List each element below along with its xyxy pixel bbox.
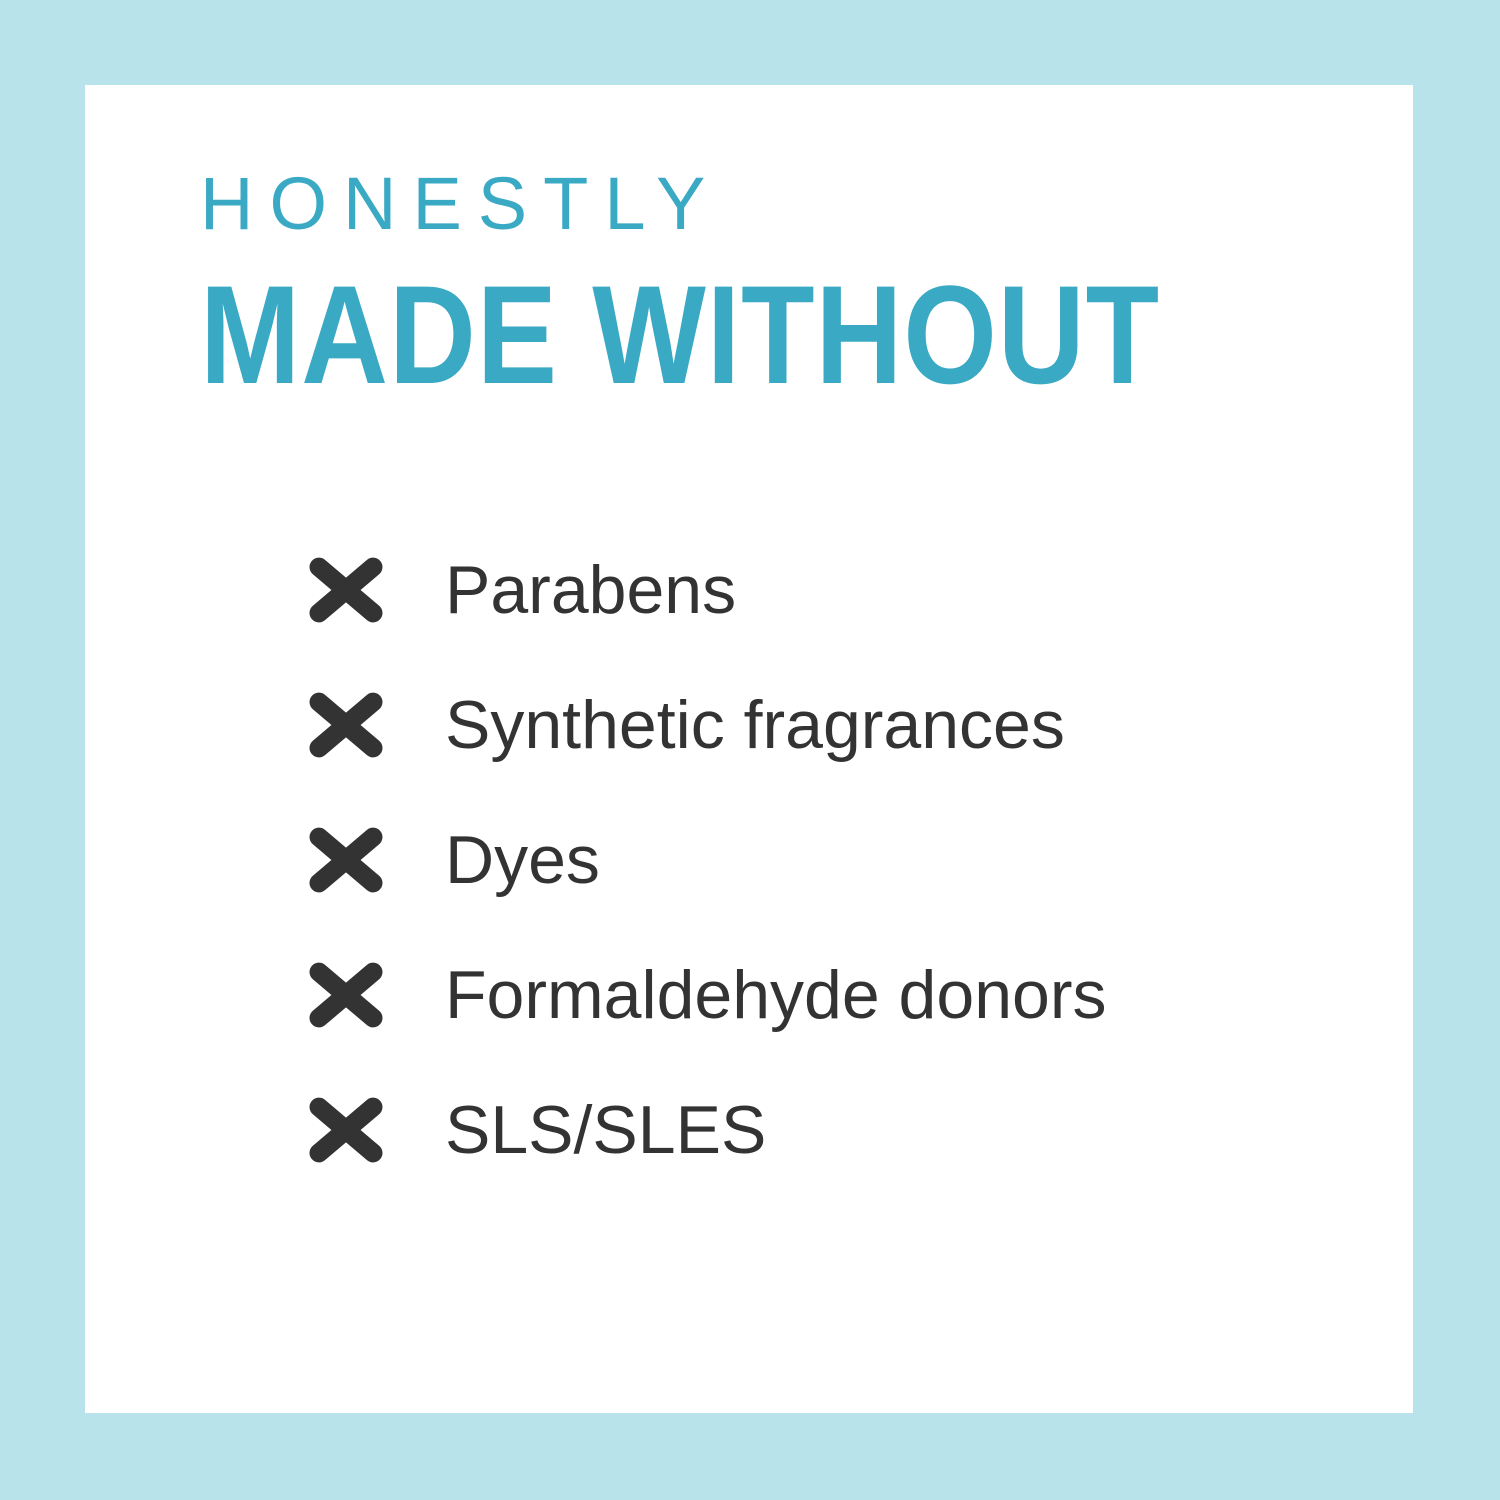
x-mark-icon (305, 1089, 387, 1171)
list-item: Parabens (305, 540, 1365, 640)
list-item: Formaldehyde donors (305, 945, 1365, 1045)
list-item: Dyes (305, 810, 1365, 910)
content-panel: HONESTLY MADE WITHOUT Parabens (85, 85, 1413, 1413)
heading-block: HONESTLY MADE WITHOUT (200, 165, 1390, 405)
x-mark-icon (305, 819, 387, 901)
list-item-label: Formaldehyde donors (445, 958, 1365, 1032)
list-item-label: SLS/SLES (445, 1093, 1365, 1167)
x-mark-icon (305, 684, 387, 766)
list-item: SLS/SLES (305, 1080, 1365, 1180)
poster-canvas: HONESTLY MADE WITHOUT Parabens (0, 0, 1500, 1500)
x-mark-icon (305, 954, 387, 1036)
list-item-label: Parabens (445, 553, 1365, 627)
eyebrow-text: HONESTLY (200, 165, 1390, 243)
list-item: Synthetic fragrances (305, 675, 1365, 775)
x-mark-icon (305, 549, 387, 631)
excluded-ingredients-list: Parabens Synthetic fragrances (305, 540, 1365, 1180)
list-item-label: Dyes (445, 823, 1365, 897)
list-item-label: Synthetic fragrances (445, 688, 1365, 762)
page-title: MADE WITHOUT (200, 265, 1223, 405)
